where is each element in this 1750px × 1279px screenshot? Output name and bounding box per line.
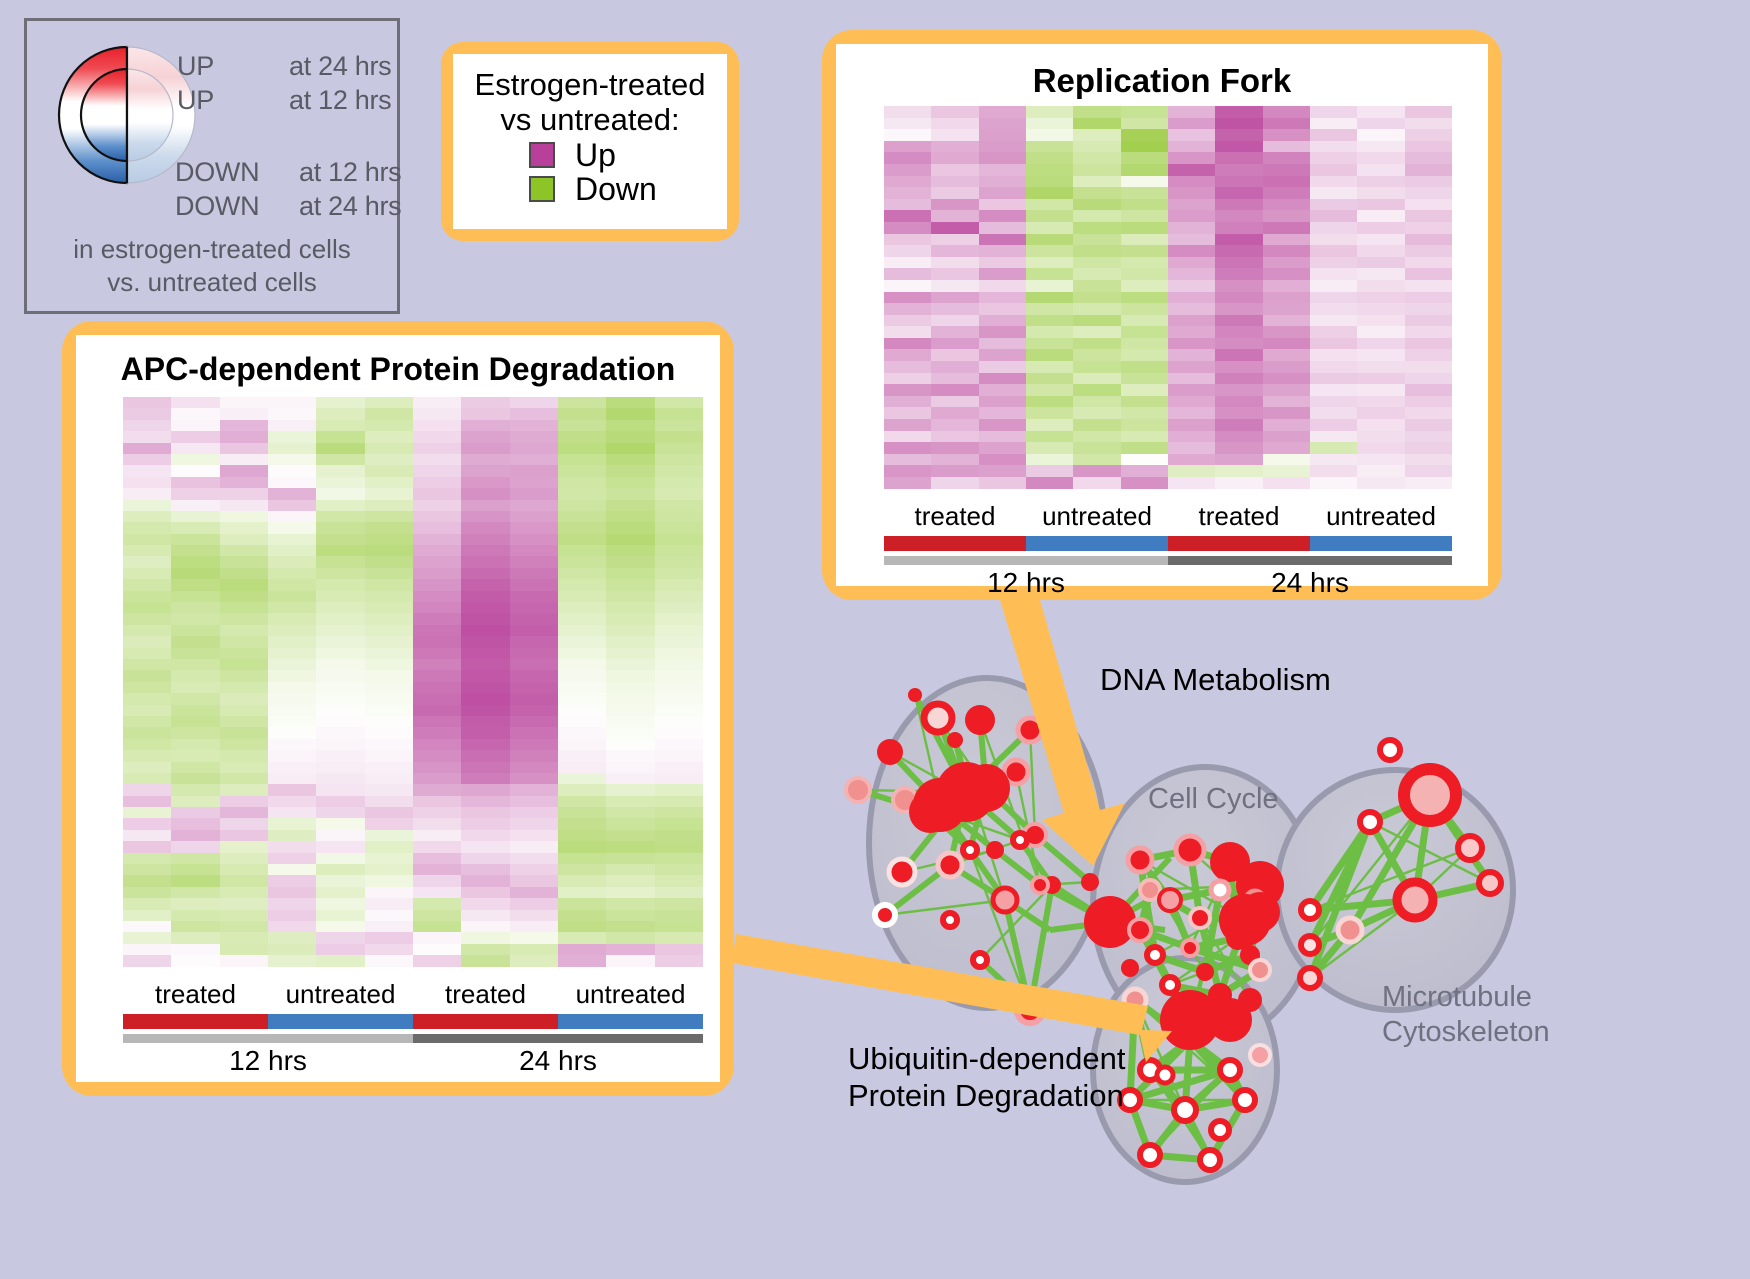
heatmap-cell — [1310, 199, 1357, 211]
heatmap-cell — [510, 420, 558, 431]
heatmap-cell — [655, 932, 703, 943]
heatmap-cell — [1310, 292, 1357, 304]
heatmap-cell — [558, 477, 606, 488]
heatmap-cell — [606, 408, 654, 419]
heatmap-cell — [413, 830, 461, 841]
heatmap-cell — [510, 465, 558, 476]
treatment-colour-segment — [884, 536, 1026, 551]
heatmap-cell — [884, 396, 931, 408]
treatment-colour-bar — [123, 1014, 703, 1029]
heatmap-cell — [655, 864, 703, 875]
heatmap-cell — [268, 739, 316, 750]
heatmap-cell — [1405, 257, 1452, 269]
heatmap-cell — [461, 397, 509, 408]
heatmap-cell — [979, 187, 1026, 199]
heatmap-cell — [461, 488, 509, 499]
heatmap-cell — [510, 500, 558, 511]
heatmap-cell — [1357, 315, 1404, 327]
heatmap-row — [884, 465, 1452, 477]
heatmap-cell — [1357, 373, 1404, 385]
heatmap-cell — [606, 944, 654, 955]
heatmap-row — [884, 292, 1452, 304]
heatmap-cell — [365, 841, 413, 852]
heatmap-cell — [171, 648, 219, 659]
heatmap-cell — [365, 488, 413, 499]
heatmap-cell — [510, 864, 558, 875]
heatmap-cell — [461, 750, 509, 761]
heatmap-cell — [1121, 419, 1168, 431]
heatmap-row — [123, 522, 703, 533]
heatmap-cell — [365, 705, 413, 716]
heatmap-row — [884, 442, 1452, 454]
heatmap-cell — [461, 910, 509, 921]
heatmap-cell — [1168, 257, 1215, 269]
heatmap-cell — [123, 875, 171, 886]
heatmap-cell — [365, 750, 413, 761]
heatmap-cell — [606, 534, 654, 545]
heatmap-cell — [1168, 152, 1215, 164]
heatmap-cell — [1168, 465, 1215, 477]
heatmap-cell — [461, 454, 509, 465]
heatmap-cell — [268, 500, 316, 511]
heatmap-cell — [510, 648, 558, 659]
heatmap-cell — [1121, 326, 1168, 338]
heatmap-cell — [1215, 407, 1262, 419]
heatmap-cell — [316, 511, 364, 522]
heatmap-cell — [268, 602, 316, 613]
heatmap-cell — [1215, 106, 1262, 118]
heatmap-cell — [365, 693, 413, 704]
heatmap-cell — [365, 511, 413, 522]
heatmap-cell — [931, 384, 978, 396]
heatmap-cell — [171, 864, 219, 875]
heatmap-cell — [655, 522, 703, 533]
heatmap-cell — [413, 898, 461, 909]
heatmap-cell — [461, 636, 509, 647]
heatmap-cell — [171, 408, 219, 419]
heatmap-cell — [979, 431, 1026, 443]
heatmap-cell — [220, 841, 268, 852]
heatmap-cell — [1073, 431, 1120, 443]
group-name-row: treateduntreatedtreateduntreated — [884, 501, 1452, 532]
heatmap-cell — [268, 841, 316, 852]
heatmap-cell — [365, 465, 413, 476]
heatmap-cell — [1073, 280, 1120, 292]
label-ubiquitin-degradation: Ubiquitin-dependent Protein Degradation — [848, 1040, 1126, 1114]
heatmap-cell — [884, 338, 931, 350]
heatmap-cell — [1357, 141, 1404, 153]
heatmap-cell — [171, 500, 219, 511]
heatmap-cell — [606, 659, 654, 670]
heatmap-cell — [316, 591, 364, 602]
heatmap-cell — [931, 419, 978, 431]
heatmap-cell — [1121, 141, 1168, 153]
heatmap-cell — [931, 442, 978, 454]
heatmap-cell — [1026, 245, 1073, 257]
heatmap-cell — [413, 750, 461, 761]
heatmap-cell — [1215, 141, 1262, 153]
heatmap-cell — [365, 921, 413, 932]
heatmap-cell — [606, 932, 654, 943]
heatmap-cell — [655, 568, 703, 579]
heatmap-cell — [316, 932, 364, 943]
heatmap-cell — [413, 579, 461, 590]
heatmap-cell — [510, 762, 558, 773]
heatmap-row — [123, 602, 703, 613]
heatmap-cell — [365, 807, 413, 818]
heatmap-cell — [510, 522, 558, 533]
heatmap-cell — [1263, 442, 1310, 454]
heatmap-cell — [413, 500, 461, 511]
timepoint-label: 12 hrs — [884, 567, 1168, 599]
heatmap-cell — [1073, 361, 1120, 373]
heatmap-cell — [123, 500, 171, 511]
heatmap-cell — [931, 349, 978, 361]
heatmap-cell — [220, 818, 268, 829]
heatmap-cell — [1263, 396, 1310, 408]
heatmap-cell — [1026, 349, 1073, 361]
heatmap-cell — [268, 944, 316, 955]
heatmap-cell — [220, 796, 268, 807]
caption-line-1: in estrogen-treated cells — [27, 233, 397, 266]
heatmap-cell — [655, 716, 703, 727]
heatmap-cell — [413, 853, 461, 864]
heatmap-cell — [931, 361, 978, 373]
heatmap-cell — [413, 864, 461, 875]
heatmap-cell — [606, 556, 654, 567]
wheel-label-up-24: UP — [177, 51, 214, 82]
heatmap-cell — [413, 921, 461, 932]
heatmap-row — [123, 636, 703, 647]
heatmap-cell — [979, 407, 1026, 419]
heatmap-cell — [510, 488, 558, 499]
heatmap-cell — [1215, 152, 1262, 164]
heatmap-cell — [1263, 338, 1310, 350]
heatmap-cell — [1121, 442, 1168, 454]
heatmap-cell — [461, 944, 509, 955]
legend-title-line-1: Estrogen-treated — [453, 68, 727, 103]
heatmap-cell — [268, 420, 316, 431]
heatmap-cell — [413, 818, 461, 829]
heatmap-cell — [316, 545, 364, 556]
heatmap-row — [123, 762, 703, 773]
heatmap-cell — [413, 408, 461, 419]
heatmap-cell — [884, 454, 931, 466]
heatmap-cell — [1121, 280, 1168, 292]
heatmap-cell — [1168, 234, 1215, 246]
heatmap-cell — [171, 762, 219, 773]
heatmap-cell — [1357, 361, 1404, 373]
heatmap-row — [884, 396, 1452, 408]
heatmap-cell — [268, 613, 316, 624]
heatmap-cell — [931, 407, 978, 419]
heatmap-cell — [171, 477, 219, 488]
down-label: Down — [575, 173, 657, 205]
heatmap-cell — [655, 602, 703, 613]
heatmap-cell — [1357, 454, 1404, 466]
heatmap-cell — [1168, 129, 1215, 141]
heatmap-cell — [1026, 280, 1073, 292]
heatmap-cell — [1310, 303, 1357, 315]
heatmap-cell — [1121, 268, 1168, 280]
heatmap-row — [884, 454, 1452, 466]
heatmap-cell — [316, 488, 364, 499]
heatmap-cell — [510, 443, 558, 454]
heatmap-cell — [1026, 465, 1073, 477]
heatmap-cell — [268, 625, 316, 636]
heatmap-cell — [979, 349, 1026, 361]
heatmap-cell — [171, 784, 219, 795]
heatmap-cell — [1357, 210, 1404, 222]
heatmap-cell — [1263, 257, 1310, 269]
label-dna-metabolism: DNA Metabolism — [1100, 662, 1331, 698]
heatmap-cell — [1121, 454, 1168, 466]
heatmap-cell — [1168, 477, 1215, 489]
heatmap-cell — [655, 944, 703, 955]
heatmap-cell — [461, 921, 509, 932]
heatmap-cell — [220, 773, 268, 784]
heatmap-cell — [606, 887, 654, 898]
timepoint-colour-bar — [123, 1034, 703, 1043]
heatmap-cell — [461, 830, 509, 841]
heatmap-cell — [268, 716, 316, 727]
heatmap-cell — [510, 408, 558, 419]
heatmap-cell — [316, 477, 364, 488]
heatmap-row — [123, 397, 703, 408]
heatmap-cell — [510, 602, 558, 613]
heatmap-cell — [461, 591, 509, 602]
heatmap-cell — [171, 556, 219, 567]
heatmap-cell — [979, 234, 1026, 246]
heatmap-cell — [606, 875, 654, 886]
heatmap-cell — [510, 807, 558, 818]
heatmap-row — [123, 443, 703, 454]
heatmap-cell — [171, 488, 219, 499]
heatmap-cell — [171, 397, 219, 408]
heatmap-cell — [979, 396, 1026, 408]
treatment-colour-segment — [1168, 536, 1310, 551]
heatmap-row — [123, 534, 703, 545]
heatmap-cell — [413, 591, 461, 602]
heatmap-cell — [316, 887, 364, 898]
heatmap-cell — [123, 625, 171, 636]
heatmap-cell — [1073, 338, 1120, 350]
heatmap-row — [884, 384, 1452, 396]
heatmap-cell — [931, 257, 978, 269]
treatment-colour-segment — [413, 1014, 558, 1029]
heatmap-cell — [558, 864, 606, 875]
heatmap-cell — [461, 625, 509, 636]
heatmap-cell — [558, 727, 606, 738]
heatmap-cell — [1026, 141, 1073, 153]
replication-fork-column-annotation: treateduntreatedtreateduntreated12 hrs24… — [884, 501, 1452, 599]
heatmap-cell — [1357, 384, 1404, 396]
heatmap-row — [884, 419, 1452, 431]
heatmap-cell — [558, 875, 606, 886]
heatmap-cell — [461, 659, 509, 670]
heatmap-cell — [606, 465, 654, 476]
heatmap-cell — [1405, 477, 1452, 489]
heatmap-row — [123, 454, 703, 465]
heatmap-cell — [1215, 338, 1262, 350]
heatmap-cell — [171, 659, 219, 670]
heatmap-cell — [268, 910, 316, 921]
heatmap-cell — [884, 210, 931, 222]
heatmap-cell — [461, 511, 509, 522]
heatmap-cell — [558, 534, 606, 545]
heatmap-cell — [220, 431, 268, 442]
heatmap-row — [123, 648, 703, 659]
heatmap-cell — [1263, 141, 1310, 153]
heatmap-cell — [123, 750, 171, 761]
heatmap-cell — [1263, 315, 1310, 327]
heatmap-cell — [316, 727, 364, 738]
heatmap-cell — [1405, 210, 1452, 222]
heatmap-cell — [884, 234, 931, 246]
heatmap-cell — [606, 807, 654, 818]
heatmap-cell — [365, 556, 413, 567]
heatmap-cell — [884, 176, 931, 188]
up-label: Up — [575, 139, 616, 171]
heatmap-cell — [365, 591, 413, 602]
heatmap-cell — [1405, 245, 1452, 257]
heatmap-cell — [1263, 210, 1310, 222]
heatmap-cell — [558, 568, 606, 579]
heatmap-cell — [1263, 373, 1310, 385]
heatmap-cell — [461, 762, 509, 773]
heatmap-cell — [365, 545, 413, 556]
heatmap-row — [884, 303, 1452, 315]
heatmap-cell — [510, 750, 558, 761]
heatmap-cell — [268, 545, 316, 556]
heatmap-row — [884, 199, 1452, 211]
heatmap-cell — [884, 326, 931, 338]
heatmap-cell — [365, 875, 413, 886]
heatmap-cell — [558, 818, 606, 829]
heatmap-cell — [365, 602, 413, 613]
heatmap-cell — [1405, 106, 1452, 118]
heatmap-cell — [606, 591, 654, 602]
heatmap-cell — [931, 187, 978, 199]
heatmap-cell — [1073, 454, 1120, 466]
heatmap-cell — [316, 944, 364, 955]
heatmap-cell — [123, 705, 171, 716]
heatmap-cell — [1215, 315, 1262, 327]
heatmap-cell — [413, 955, 461, 966]
heatmap-cell — [510, 716, 558, 727]
heatmap-cell — [510, 454, 558, 465]
heatmap-cell — [1215, 199, 1262, 211]
heatmap-cell — [1073, 303, 1120, 315]
heatmap-cell — [268, 921, 316, 932]
heatmap-cell — [1168, 315, 1215, 327]
heatmap-cell — [461, 431, 509, 442]
heatmap-cell — [171, 602, 219, 613]
heatmap-cell — [655, 545, 703, 556]
heatmap-cell — [1073, 292, 1120, 304]
heatmap-cell — [558, 613, 606, 624]
heatmap-cell — [510, 705, 558, 716]
heatmap-cell — [171, 454, 219, 465]
wheel-label-at-24: at 24 hrs — [289, 51, 391, 82]
heatmap-cell — [220, 397, 268, 408]
heatmap-cell — [655, 841, 703, 852]
heatmap-cell — [461, 818, 509, 829]
heatmap-cell — [931, 292, 978, 304]
heatmap-cell — [655, 921, 703, 932]
heatmap-cell — [268, 591, 316, 602]
heatmap-cell — [1168, 431, 1215, 443]
heatmap-cell — [1168, 349, 1215, 361]
heatmap-cell — [461, 556, 509, 567]
heatmap-cell — [365, 716, 413, 727]
heatmap-cell — [171, 773, 219, 784]
heatmap-cell — [1026, 361, 1073, 373]
heatmap-cell — [1310, 349, 1357, 361]
heatmap-cell — [1215, 222, 1262, 234]
heatmap-row — [884, 118, 1452, 130]
heatmap-cell — [461, 465, 509, 476]
wheel-label-up-12: UP — [177, 85, 214, 116]
heatmap-cell — [510, 739, 558, 750]
heatmap-grid — [123, 397, 703, 967]
heatmap-cell — [1026, 129, 1073, 141]
heatmap-cell — [365, 408, 413, 419]
heatmap-cell — [171, 465, 219, 476]
heatmap-cell — [268, 898, 316, 909]
heatmap-cell — [123, 898, 171, 909]
pathway-network-diagram — [790, 600, 1750, 1279]
heatmap-cell — [268, 853, 316, 864]
heatmap-cell — [220, 693, 268, 704]
heatmap-cell — [979, 338, 1026, 350]
heatmap-cell — [1073, 396, 1120, 408]
heatmap-cell — [1215, 396, 1262, 408]
heatmap-cell — [365, 955, 413, 966]
heatmap-cell — [123, 613, 171, 624]
heatmap-cell — [123, 431, 171, 442]
treatment-colour-bar — [884, 536, 1452, 551]
heatmap-cell — [316, 739, 364, 750]
heatmap-cell — [1215, 477, 1262, 489]
heatmap-cell — [606, 898, 654, 909]
heatmap-cell — [510, 898, 558, 909]
legend-row-up: Up — [453, 139, 727, 171]
heatmap-cell — [461, 875, 509, 886]
heatmap-cell — [461, 716, 509, 727]
heatmap-cell — [1215, 373, 1262, 385]
heatmap-cell — [1026, 442, 1073, 454]
heatmap-cell — [1073, 222, 1120, 234]
heatmap-cell — [220, 408, 268, 419]
heatmap-cell — [1310, 373, 1357, 385]
heatmap-cell — [1263, 349, 1310, 361]
heatmap-cell — [1121, 164, 1168, 176]
heatmap-row — [884, 234, 1452, 246]
heatmap-cell — [220, 454, 268, 465]
heatmap-cell — [931, 338, 978, 350]
heatmap-cell — [268, 932, 316, 943]
heatmap-cell — [1310, 384, 1357, 396]
heatmap-cell — [461, 477, 509, 488]
heatmap-cell — [884, 257, 931, 269]
heatmap-cell — [1168, 303, 1215, 315]
heatmap-cell — [413, 625, 461, 636]
heatmap-row — [123, 841, 703, 852]
heatmap-cell — [413, 875, 461, 886]
heatmap-cell — [510, 591, 558, 602]
heatmap-cell — [365, 397, 413, 408]
